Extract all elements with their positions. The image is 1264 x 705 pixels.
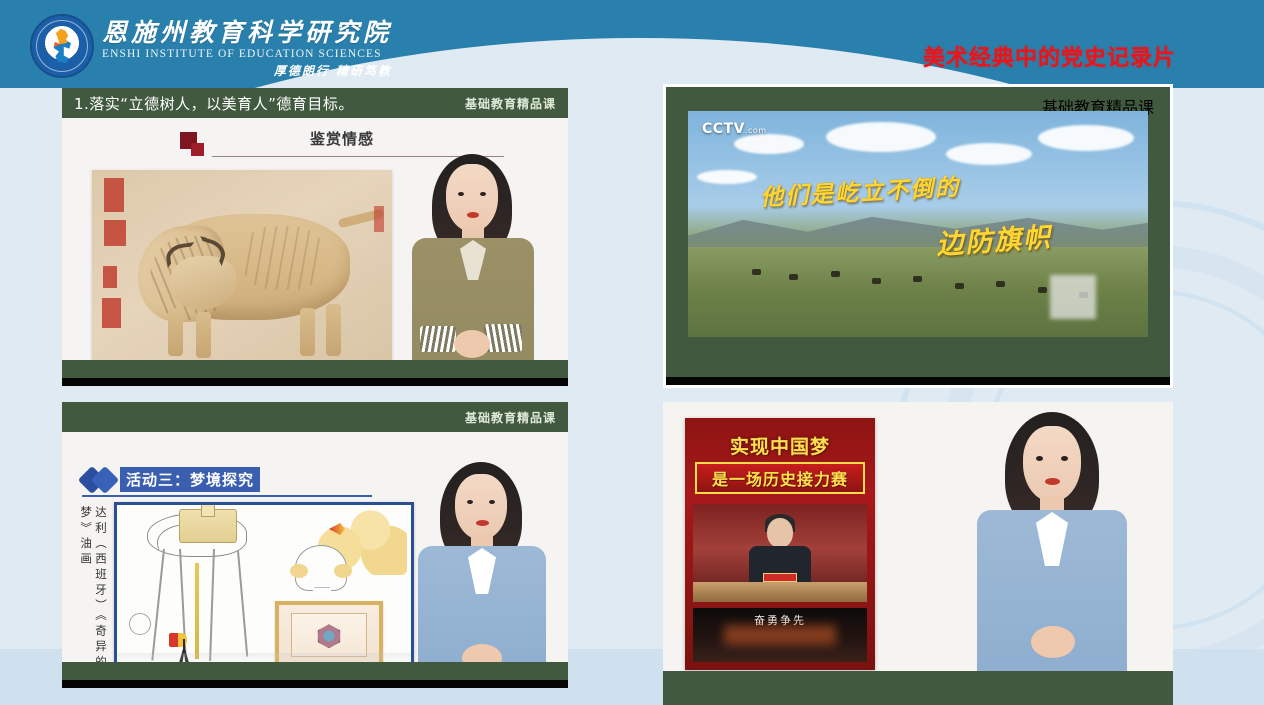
- presenter-face: [1023, 426, 1081, 502]
- seal-inner-ring: [36, 20, 88, 72]
- slide-content-appreciation: 鉴赏情感: [62, 118, 568, 360]
- rider-silhouette: [831, 271, 840, 277]
- presenter-cuff-right: [484, 324, 522, 352]
- panel-top-right[interactable]: 基础教育精品课 CCTV.com: [663, 84, 1173, 388]
- presenter-face: [455, 474, 507, 540]
- slide-heading-text: 鉴赏情感: [310, 128, 374, 149]
- activity-heading-rule: [82, 495, 372, 497]
- cctv-logo-text: CCTV: [702, 121, 745, 137]
- dali-sphere: [129, 613, 151, 635]
- panel-bottom-left-badge: 基础教育精品课: [465, 409, 556, 426]
- seal-stamp-icon: [374, 206, 384, 232]
- presenter-mouth: [467, 212, 479, 218]
- dali-seated-figure: [295, 545, 347, 591]
- video-scene-border-guards: CCTV.com 他们是屹立不倒的 边防旗帜: [688, 111, 1148, 337]
- organization-logo-block: 恩施州教育科学研究院 ENSHI INSTITUTE OF EDUCATION …: [30, 14, 392, 79]
- presenter-eye-left: [467, 500, 473, 504]
- ox-ribs: [242, 226, 324, 290]
- decor-square-red-icon: [191, 143, 204, 156]
- news-title-line1: 实现中国梦: [685, 432, 875, 459]
- news-title-line2: 是一场历史接力赛: [695, 462, 865, 494]
- organization-name-en: ENSHI INSTITUTE OF EDUCATION SCIENCES: [102, 48, 392, 60]
- artwork-caption-vertical: 达利（西班牙）《奇异的梦》油画: [74, 506, 108, 684]
- activity-heading-block: 活动三：梦境探究: [76, 466, 372, 496]
- artwork-ox-painting: [92, 170, 392, 360]
- cctv-domain-text: .com: [745, 126, 767, 135]
- seal-stamp-icon: [104, 220, 126, 246]
- panel-bottom-right-footer: [663, 671, 1173, 705]
- cloud-shape: [826, 122, 936, 152]
- ox-leg-1: [168, 308, 183, 356]
- news-clip-card: 实现中国梦 是一场历史接力赛 奋勇争先: [685, 418, 875, 670]
- organization-name-cn: 恩施州教育科学研究院: [102, 20, 392, 46]
- presenter-eye-right: [489, 500, 495, 504]
- news-blur-patch: [724, 625, 835, 644]
- panel-top-left-badge: 基础教育精品课: [465, 95, 556, 112]
- artwork-dali-painting: [114, 502, 414, 670]
- rider-silhouette: [752, 269, 761, 275]
- ox-leg-2: [196, 312, 211, 358]
- news-photo: [693, 504, 867, 602]
- cctv-logo-icon: CCTV.com: [702, 121, 767, 137]
- news-lower-strip: 奋勇争先: [693, 608, 867, 662]
- enshi-institute-seal-icon: [30, 14, 94, 78]
- slide-content-dream-exploration: 活动三：梦境探究 达利（西班牙）《奇异的梦》油画: [62, 432, 568, 666]
- rider-silhouette: [789, 274, 798, 280]
- video-blur-patch: [1050, 275, 1096, 319]
- presenter-hands: [1031, 626, 1075, 658]
- panel-top-left-blackstrip: [62, 378, 568, 386]
- dali-obelisk: [201, 502, 215, 517]
- seal-stamp-icon: [102, 298, 121, 328]
- news-person-head: [767, 518, 793, 548]
- seal-stamp-icon: [104, 178, 124, 212]
- panel-bottom-right[interactable]: 实现中国梦 是一场历史接力赛 奋勇争先: [663, 402, 1173, 705]
- presenter-cuff-left: [420, 326, 456, 352]
- panel-top-left-titlebar: 1.落实“立德树人，以美育人”德育目标。 基础教育精品课: [62, 88, 568, 118]
- presentation-stage: 恩施州教育科学研究院 ENSHI INSTITUTE OF EDUCATION …: [0, 0, 1264, 705]
- video-subtitle-line2: 边防旗帜: [935, 215, 1053, 262]
- panel-bottom-left-blackstrip: [62, 680, 568, 688]
- news-nameplate: [763, 573, 797, 582]
- panel-bottom-left[interactable]: 基础教育精品课 活动三：梦境探究 达利（西班牙）《奇异的梦》油画: [62, 402, 568, 688]
- seal-stamp-icon: [103, 266, 117, 288]
- page-title: 美术经典中的党史记录片: [923, 40, 1176, 72]
- panel-top-left-title: 1.落实“立德树人，以美育人”德育目标。: [74, 93, 354, 114]
- rider-silhouette: [955, 283, 964, 289]
- presenter-eye-left: [458, 192, 464, 196]
- rider-silhouette: [913, 276, 922, 282]
- panel-top-left-body: 鉴赏情感: [62, 118, 568, 386]
- rider-silhouette: [996, 281, 1005, 287]
- activity-label: 活动三：梦境探究: [120, 467, 260, 492]
- presenter-eye-left: [1036, 456, 1043, 461]
- presenter-figure-bottom-left: [398, 462, 566, 688]
- panel-top-left[interactable]: 1.落实“立德树人，以美育人”德育目标。 基础教育精品课 鉴赏情感: [62, 88, 568, 386]
- news-desk: [693, 582, 867, 602]
- presenter-eye-right: [480, 192, 486, 196]
- cloud-shape: [697, 170, 757, 184]
- organization-name-block: 恩施州教育科学研究院 ENSHI INSTITUTE OF EDUCATION …: [102, 14, 392, 79]
- presenter-figure-bottom-right: [951, 412, 1151, 705]
- cloud-shape: [946, 143, 1032, 165]
- rider-silhouette: [1038, 287, 1047, 293]
- panel-bottom-left-titlebar: 基础教育精品课: [62, 402, 568, 432]
- dali-pole: [195, 563, 199, 659]
- ox-leg-3: [300, 308, 315, 356]
- presenter-face: [446, 164, 498, 232]
- presenter-mouth: [1045, 478, 1060, 485]
- rider-silhouette: [872, 278, 881, 284]
- presenter-figure-top-left: [388, 154, 556, 386]
- video-frame-top-right: 基础教育精品课 CCTV.com: [663, 84, 1173, 388]
- presenter-hands: [454, 330, 490, 358]
- panel-bottom-left-body: 活动三：梦境探究 达利（西班牙）《奇异的梦》油画: [62, 432, 568, 688]
- presenter-eye-right: [1061, 456, 1068, 461]
- presenter-mouth: [476, 520, 489, 526]
- ox-leg-4: [326, 304, 341, 356]
- video-subtitle-line1: 他们是屹立不倒的: [759, 168, 961, 212]
- panel-top-right-blackstrip: [666, 377, 1170, 385]
- cloud-shape: [1038, 125, 1134, 151]
- organization-motto: 厚德朗行 精研笃教: [102, 62, 392, 79]
